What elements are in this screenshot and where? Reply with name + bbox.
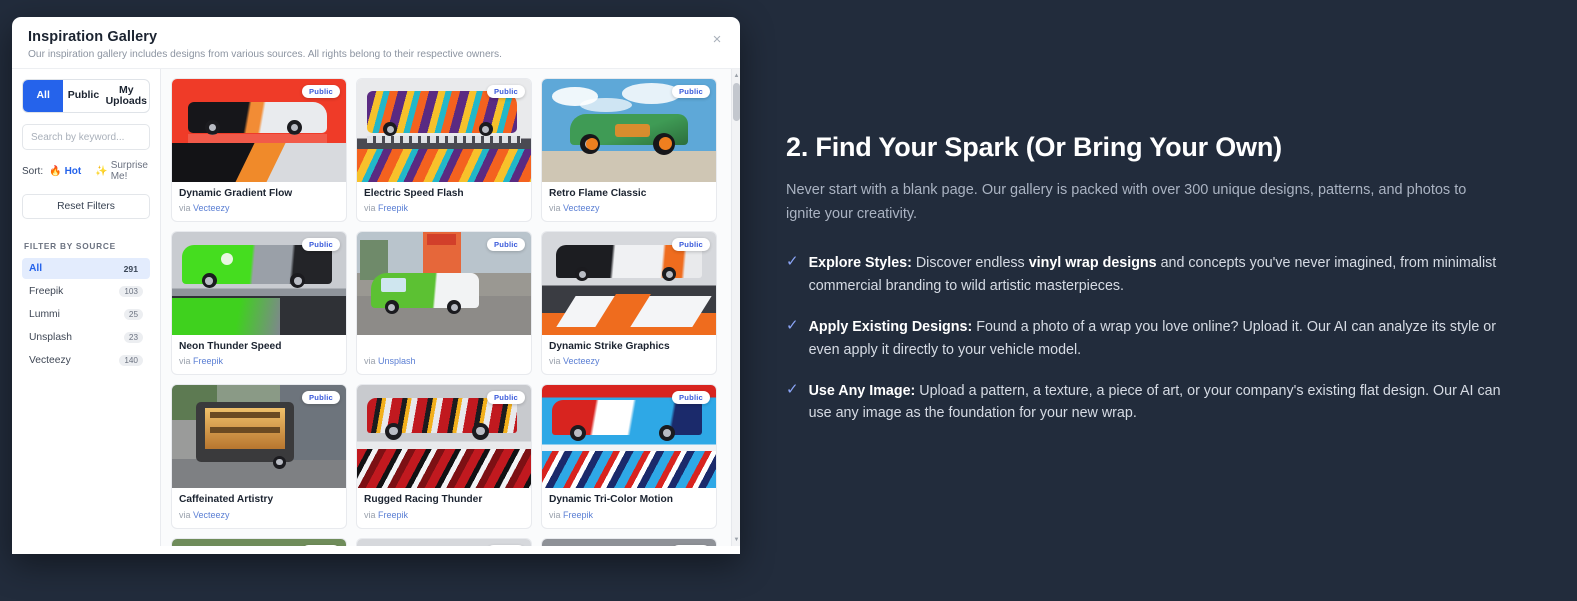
- card-source: via Unsplash: [364, 356, 524, 366]
- card-title: Dynamic Tri-Color Motion: [549, 494, 709, 506]
- gallery-card[interactable]: Public: [356, 538, 532, 546]
- card-thumbnail: Public: [172, 79, 346, 182]
- gallery-card[interactable]: Public Retro Flame Classic via Vecteezy: [541, 78, 717, 222]
- modal-subtitle: Our inspiration gallery includes designs…: [28, 49, 724, 60]
- check-icon: ✓: [786, 252, 799, 298]
- filter-name: Unsplash: [29, 332, 72, 343]
- gallery-card[interactable]: Public Dynamic Strike Graphics via Vecte…: [541, 231, 717, 375]
- card-thumbnail: Public: [542, 385, 716, 488]
- promo-bullet-list: ✓ Explore Styles: Discover endless vinyl…: [786, 252, 1511, 425]
- status-badge: Public: [302, 545, 340, 546]
- filter-sidebar: All Public My Uploads Sort: 🔥 Hot ✨ Surp…: [12, 69, 161, 546]
- app-screen: Inspiration Gallery Our inspiration gall…: [0, 0, 1577, 601]
- list-item: ✓ Apply Existing Designs: Found a photo …: [786, 316, 1511, 362]
- card-thumbnail: Public: [357, 385, 531, 488]
- gallery-card[interactable]: Public Dynamic Gradient Flow via Vecteez…: [171, 78, 347, 222]
- status-badge: Public: [672, 85, 710, 98]
- list-item: ✓ Explore Styles: Discover endless vinyl…: [786, 252, 1511, 298]
- filter-name: All: [29, 263, 42, 274]
- sort-hot-label: Hot: [65, 166, 82, 177]
- check-icon: ✓: [786, 380, 799, 426]
- card-meta: Neon Thunder Speed via Freepik: [172, 335, 346, 374]
- fire-icon: 🔥: [49, 166, 61, 177]
- filter-name: Freepik: [29, 286, 63, 297]
- modal-header: Inspiration Gallery Our inspiration gall…: [12, 17, 740, 68]
- modal-body: All Public My Uploads Sort: 🔥 Hot ✨ Surp…: [12, 68, 740, 546]
- card-source: via Vecteezy: [179, 510, 339, 520]
- tab-my-uploads[interactable]: My Uploads: [104, 80, 149, 112]
- inspiration-gallery-modal: Inspiration Gallery Our inspiration gall…: [12, 17, 740, 554]
- card-title: Caffeinated Artistry: [179, 494, 339, 506]
- card-meta: Rugged Racing Thunder via Freepik: [357, 488, 531, 527]
- status-badge: Public: [487, 391, 525, 404]
- card-source: via Vecteezy: [179, 203, 339, 213]
- list-item: ✓ Use Any Image: Upload a pattern, a tex…: [786, 380, 1511, 426]
- card-meta: Dynamic Gradient Flow via Vecteezy: [172, 182, 346, 221]
- filter-count: 25: [124, 309, 143, 320]
- gallery-card[interactable]: Public Rugged Racing Thunder via Freepik: [356, 384, 532, 528]
- bullet-emphasis: vinyl wrap designs: [1029, 255, 1157, 271]
- status-badge: Public: [302, 391, 340, 404]
- promo-panel: 2. Find Your Spark (Or Bring Your Own) N…: [786, 132, 1511, 443]
- card-meta: Electric Speed Flash via Freepik: [357, 182, 531, 221]
- card-thumbnail: Public: [172, 232, 346, 335]
- promo-subheading: Never start with a blank page. Our galle…: [786, 179, 1486, 226]
- card-thumbnail: Public: [542, 79, 716, 182]
- sort-controls: Sort: 🔥 Hot ✨ Surprise Me!: [22, 161, 150, 182]
- gallery-card[interactable]: Public Dynamic Tri-Color Motion via Free…: [541, 384, 717, 528]
- bullet-text: Explore Styles: Discover endless vinyl w…: [809, 252, 1511, 298]
- promo-heading: 2. Find Your Spark (Or Bring Your Own): [786, 132, 1511, 163]
- filter-item-freepik[interactable]: Freepik 103: [22, 281, 150, 302]
- bullet-body-a: Discover endless: [912, 255, 1029, 271]
- card-meta: Caffeinated Artistry via Vecteezy: [172, 488, 346, 527]
- source-tab-group: All Public My Uploads: [22, 79, 150, 113]
- reset-filters-button[interactable]: Reset Filters: [22, 194, 150, 219]
- filter-by-source-header: FILTER BY SOURCE: [22, 241, 150, 251]
- bullet-text: Apply Existing Designs: Found a photo of…: [809, 316, 1511, 362]
- filter-count: 23: [124, 332, 143, 343]
- card-meta: Retro Flame Classic via Vecteezy: [542, 182, 716, 221]
- card-title: Retro Flame Classic: [549, 188, 709, 200]
- filter-item-lummi[interactable]: Lummi 25: [22, 304, 150, 325]
- status-badge: Public: [672, 238, 710, 251]
- filter-name: Vecteezy: [29, 355, 71, 366]
- card-title: Dynamic Gradient Flow: [179, 188, 339, 200]
- gallery-card[interactable]: Public: [541, 538, 717, 546]
- filter-item-vecteezy[interactable]: Vecteezy 140: [22, 350, 150, 371]
- gallery-grid: Public Dynamic Gradient Flow via Vecteez…: [161, 69, 740, 546]
- card-title: Neon Thunder Speed: [179, 341, 339, 353]
- gallery-card[interactable]: Public Caffeinated Artistry via Vecteezy: [171, 384, 347, 528]
- card-thumbnail: Public: [357, 79, 531, 182]
- status-badge: Public: [672, 391, 710, 404]
- filter-item-unsplash[interactable]: Unsplash 23: [22, 327, 150, 348]
- page-title: Inspiration Gallery: [28, 29, 724, 45]
- card-thumbnail: Public: [542, 539, 716, 546]
- card-thumbnail: Public: [357, 539, 531, 546]
- bullet-lead: Use Any Image:: [809, 383, 916, 399]
- card-thumbnail: Public: [172, 539, 346, 546]
- card-title: Electric Speed Flash: [364, 188, 524, 200]
- sort-label: Sort:: [22, 166, 43, 177]
- filter-count: 291: [119, 263, 143, 275]
- card-title: Dynamic Strike Graphics: [549, 341, 709, 353]
- card-source: via Freepik: [364, 203, 524, 213]
- gallery-card[interactable]: Public Neon Thunder Speed via Freepik: [171, 231, 347, 375]
- tab-all[interactable]: All: [23, 80, 63, 112]
- filter-item-all[interactable]: All 291: [22, 258, 150, 279]
- source-filter-list: All 291 Freepik 103 Lummi 25 Unsplash 23: [22, 258, 150, 371]
- status-badge: Public: [487, 85, 525, 98]
- card-source: via Vecteezy: [549, 356, 709, 366]
- gallery-card[interactable]: Public: [171, 538, 347, 546]
- card-title: [364, 341, 524, 353]
- status-badge: Public: [302, 85, 340, 98]
- scroll-down-icon[interactable]: ▼: [732, 534, 740, 545]
- card-title: Rugged Racing Thunder: [364, 494, 524, 506]
- scrollbar-thumb[interactable]: [733, 83, 740, 121]
- filter-count: 140: [119, 355, 143, 366]
- tab-public[interactable]: Public: [63, 80, 103, 112]
- card-source: via Vecteezy: [549, 203, 709, 213]
- card-thumbnail: Public: [172, 385, 346, 488]
- status-badge: Public: [302, 238, 340, 251]
- gallery-scrollbar[interactable]: ▲ ▼: [731, 69, 740, 546]
- surprise-me-label: Surprise Me!: [111, 161, 150, 182]
- status-badge: Public: [487, 238, 525, 251]
- close-icon[interactable]: ×: [707, 29, 727, 49]
- gallery-card[interactable]: Public via Unsplash: [356, 231, 532, 375]
- card-meta: Dynamic Strike Graphics via Vecteezy: [542, 335, 716, 374]
- sort-hot-button[interactable]: 🔥 Hot: [49, 166, 81, 177]
- card-meta: Dynamic Tri-Color Motion via Freepik: [542, 488, 716, 527]
- card-meta: via Unsplash: [357, 335, 531, 374]
- gallery-card[interactable]: Public Electric Speed Flash via Freepik: [356, 78, 532, 222]
- sparkle-icon: ✨: [95, 166, 107, 177]
- card-source: via Freepik: [549, 510, 709, 520]
- bullet-text: Use Any Image: Upload a pattern, a textu…: [809, 380, 1511, 426]
- gallery-scroll-area[interactable]: Public Dynamic Gradient Flow via Vecteez…: [161, 69, 740, 546]
- surprise-me-button[interactable]: ✨ Surprise Me!: [95, 161, 149, 182]
- bullet-lead: Explore Styles:: [809, 255, 912, 271]
- card-source: via Freepik: [179, 356, 339, 366]
- status-badge: Public: [672, 545, 710, 546]
- card-thumbnail: Public: [542, 232, 716, 335]
- card-thumbnail: Public: [357, 232, 531, 335]
- card-source: via Freepik: [364, 510, 524, 520]
- check-icon: ✓: [786, 316, 799, 362]
- bullet-lead: Apply Existing Designs:: [809, 319, 973, 335]
- filter-count: 103: [119, 286, 143, 297]
- search-input[interactable]: [22, 124, 150, 150]
- status-badge: Public: [487, 545, 525, 546]
- filter-name: Lummi: [29, 309, 60, 320]
- scroll-up-icon[interactable]: ▲: [732, 70, 740, 81]
